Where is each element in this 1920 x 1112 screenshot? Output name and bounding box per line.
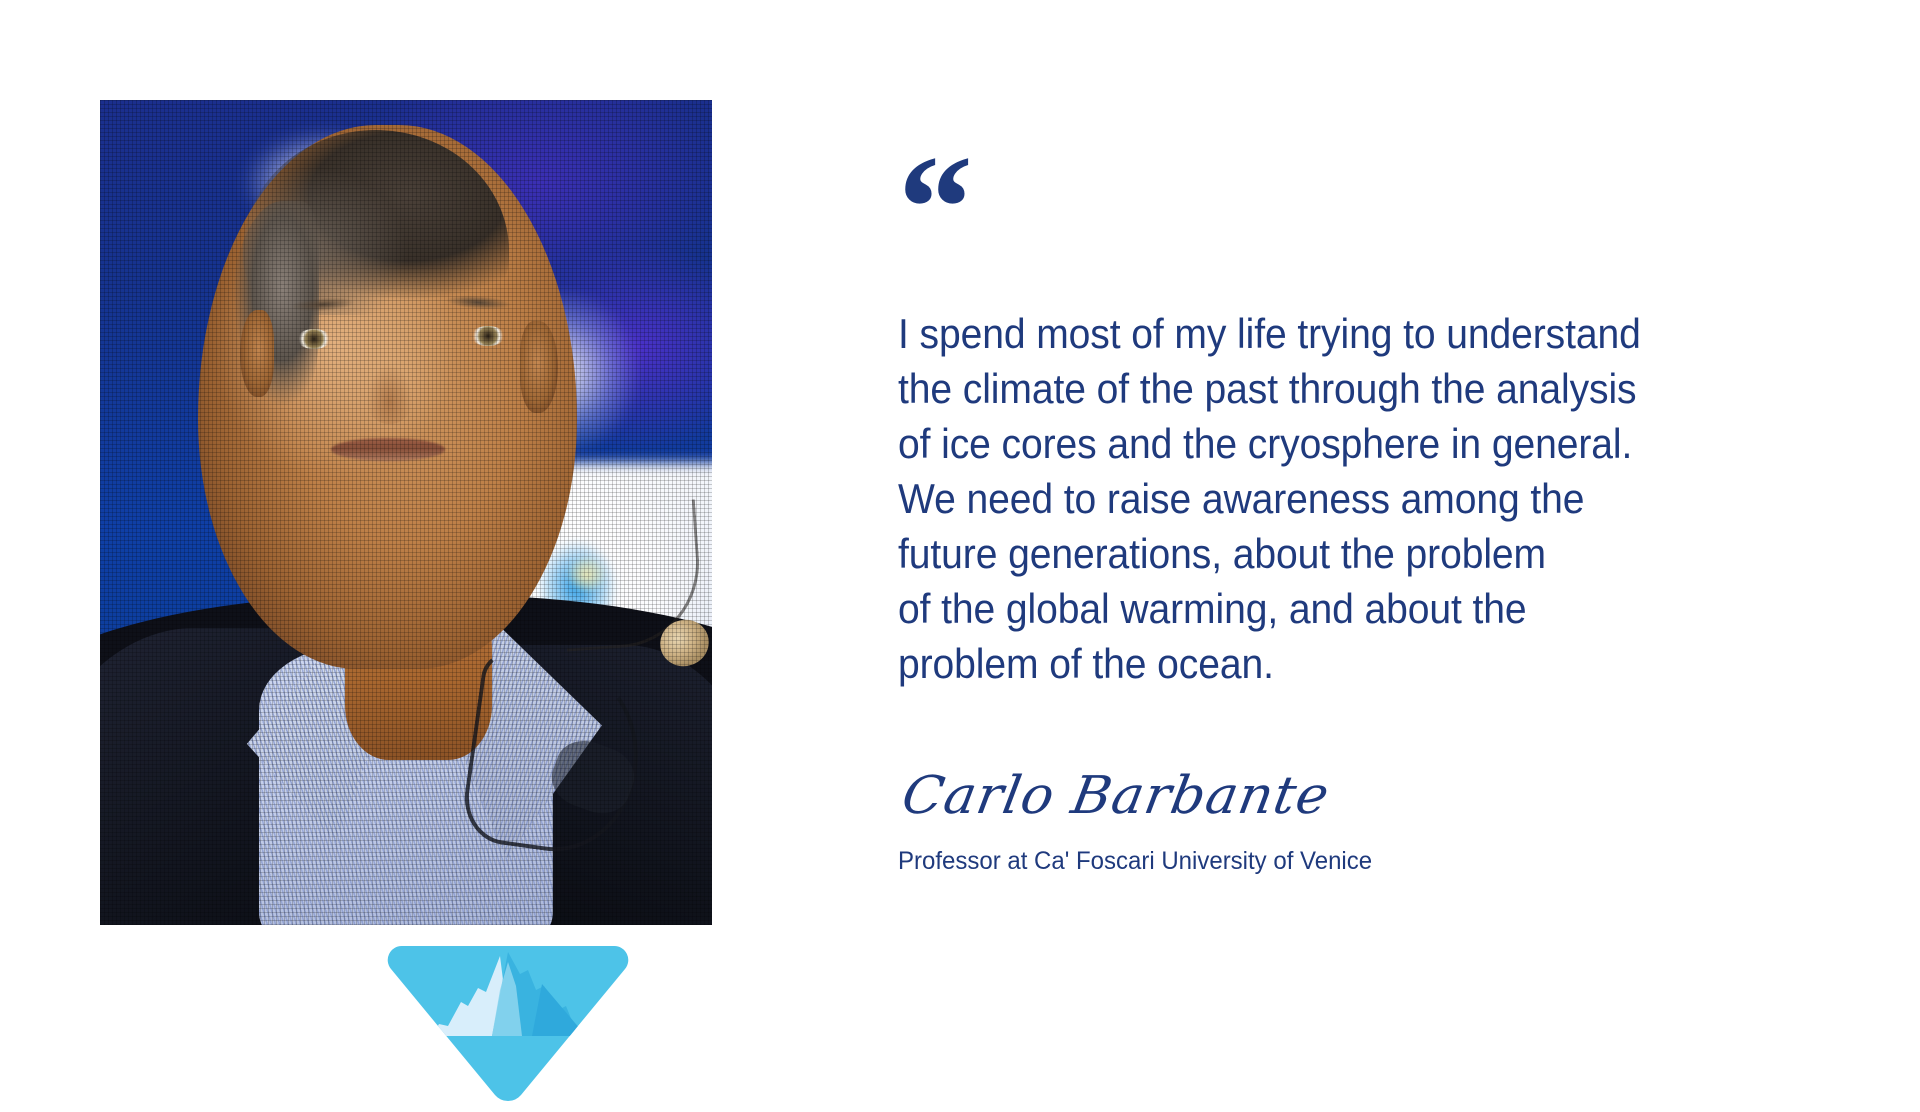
quote-panel: “ I spend most of my life trying to unde… xyxy=(898,150,1858,876)
quote-text: I spend most of my life trying to unders… xyxy=(898,306,1791,691)
quote-slide: “ I spend most of my life trying to unde… xyxy=(0,0,1920,1080)
quote-line: of the global warming, and about the xyxy=(898,581,1791,636)
portrait-photo xyxy=(100,100,712,925)
portrait-photo-block xyxy=(100,100,712,925)
quote-line: future generations, about the problem xyxy=(898,526,1791,581)
quote-line: I spend most of my life trying to unders… xyxy=(898,306,1791,361)
mountain-triangle-logo xyxy=(382,940,634,1112)
led-pixel-grid-overlay xyxy=(100,100,712,925)
quote-line: We need to raise awareness among the xyxy=(898,471,1791,526)
author-signature: Carlo Barbante xyxy=(898,769,1887,824)
quote-line: of ice cores and the cryosphere in gener… xyxy=(898,416,1791,471)
quote-line: problem of the ocean. xyxy=(898,636,1791,691)
quotation-mark-icon: “ xyxy=(898,150,1858,258)
quote-line: the climate of the past through the anal… xyxy=(898,361,1791,416)
author-title: Professor at Ca' Foscari University of V… xyxy=(898,846,1820,876)
